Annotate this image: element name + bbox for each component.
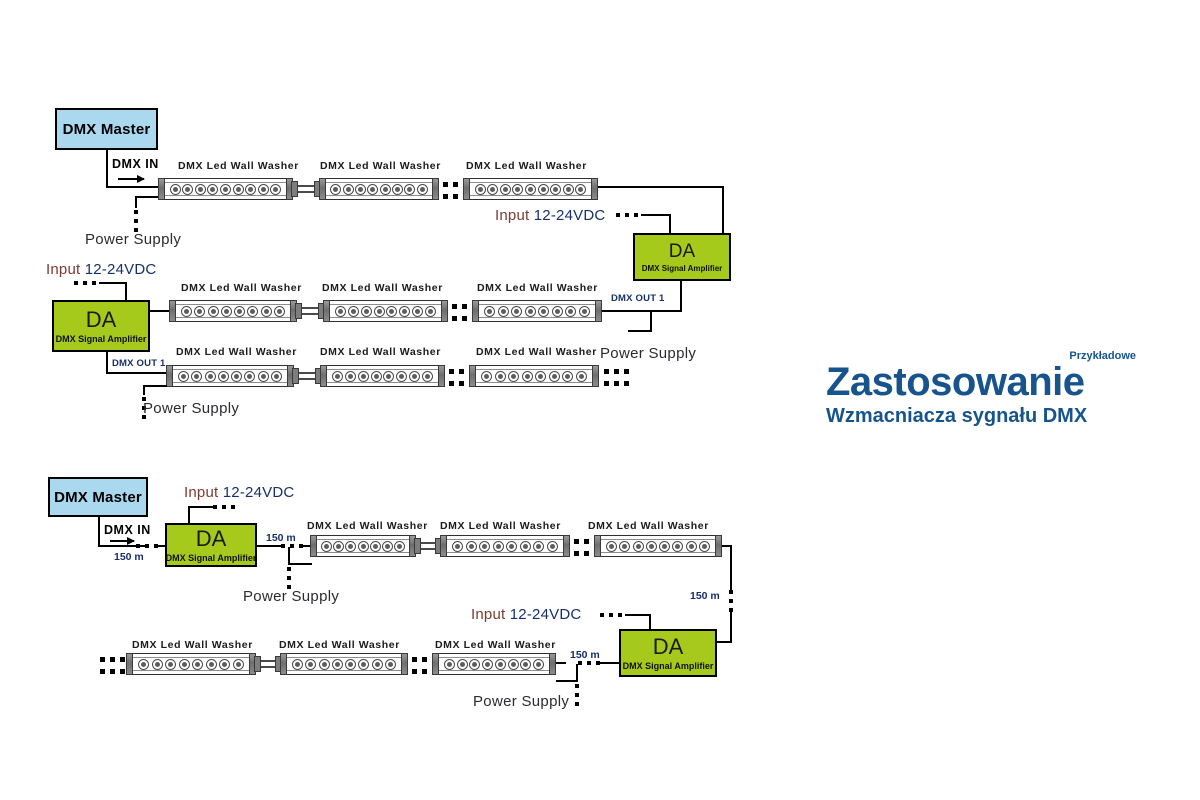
bar-body bbox=[439, 653, 549, 675]
title-block: Przykładowe Zastosowanie Wzmacniacza syg… bbox=[826, 350, 1136, 427]
wire-input-da-bl-h bbox=[188, 506, 214, 508]
led-lens bbox=[332, 371, 343, 382]
bar-end-cap bbox=[595, 300, 602, 322]
washer-label-r4-3: DMX Led Wall Washer bbox=[588, 521, 709, 532]
power-supply-label-mid: Power Supply bbox=[600, 346, 696, 361]
power-supply-label-top: Power Supply bbox=[85, 232, 181, 247]
led-lens bbox=[525, 306, 536, 317]
led-lens bbox=[619, 541, 630, 552]
distance-label-3: 150 m bbox=[690, 591, 720, 602]
bar-end-cap bbox=[432, 653, 439, 675]
led-lens bbox=[182, 184, 193, 195]
dmx-amplifier-bottom-right: DA DMX Signal Amplifier bbox=[619, 629, 717, 677]
led-lens bbox=[234, 306, 245, 317]
led-lens bbox=[233, 659, 244, 670]
led-lens bbox=[522, 371, 533, 382]
bar-connector-r4-1 bbox=[414, 538, 442, 554]
led-lens bbox=[261, 306, 272, 317]
wire-r2-out-v bbox=[680, 281, 682, 311]
amplifier-title: DA bbox=[196, 528, 227, 550]
led-lens bbox=[565, 306, 576, 317]
wire-input-da-mid-h bbox=[99, 282, 127, 284]
wire-da-br-to-r5 bbox=[556, 662, 566, 664]
led-lens bbox=[205, 371, 216, 382]
wall-washer-r5-2 bbox=[280, 653, 408, 675]
amplifier-title: DA bbox=[669, 242, 695, 261]
led-lens bbox=[206, 659, 217, 670]
wall-washer-r4-3 bbox=[594, 535, 722, 557]
led-row bbox=[476, 366, 592, 386]
bar-end-cap bbox=[166, 365, 173, 387]
led-lens bbox=[417, 184, 428, 195]
wire-da-mid-to-r2 bbox=[150, 310, 169, 312]
input-voltage-label-bottom-right: Input 12-24VDC bbox=[471, 607, 581, 622]
led-lens bbox=[394, 541, 405, 552]
wire-ps-r4-v bbox=[288, 547, 290, 565]
led-lens bbox=[195, 184, 206, 195]
distance-label-4: 150 m bbox=[570, 650, 600, 661]
led-lens bbox=[457, 659, 468, 670]
led-lens bbox=[512, 184, 523, 195]
input-dots-top bbox=[616, 213, 638, 217]
led-lens bbox=[181, 306, 192, 317]
led-lens bbox=[538, 306, 549, 317]
bar-end-cap bbox=[549, 653, 556, 675]
led-lens bbox=[547, 541, 558, 552]
led-lens bbox=[533, 659, 544, 670]
amplifier-title: DA bbox=[86, 309, 117, 331]
washer-label-r2-3: DMX Led Wall Washer bbox=[477, 283, 598, 294]
led-lens bbox=[646, 541, 657, 552]
bar-body bbox=[317, 535, 409, 557]
wire-input-da-bl-v bbox=[188, 506, 190, 523]
wall-washer-r1-2 bbox=[319, 178, 439, 200]
led-lens bbox=[425, 306, 436, 317]
led-lens bbox=[358, 659, 369, 670]
distance-label-1: 150 m bbox=[114, 552, 144, 563]
wall-washer-r4-1 bbox=[310, 535, 416, 557]
led-lens bbox=[321, 541, 332, 552]
led-lens bbox=[179, 659, 190, 670]
led-lens bbox=[386, 306, 397, 317]
input-value: 12-24VDC bbox=[223, 484, 295, 501]
bar-body bbox=[470, 178, 591, 200]
led-lens bbox=[562, 371, 573, 382]
led-row bbox=[439, 654, 549, 674]
ps-dots-top bbox=[134, 210, 138, 232]
input-dots-mid bbox=[74, 281, 96, 285]
amplifier-title: DA bbox=[653, 636, 684, 658]
bar-connector-r3-1 bbox=[292, 368, 322, 384]
bar-end-cap bbox=[441, 300, 448, 322]
led-lens bbox=[493, 541, 504, 552]
led-lens bbox=[606, 541, 617, 552]
bar-body bbox=[173, 365, 287, 387]
dmx-in-arrow-bottom bbox=[110, 540, 134, 542]
distance-label-2: 150 m bbox=[266, 533, 296, 544]
bar-end-cap bbox=[319, 178, 326, 200]
dmx-master-label: DMX Master bbox=[54, 489, 142, 506]
wall-washer-r5-1 bbox=[126, 653, 256, 675]
wire-r1-to-da bbox=[722, 186, 724, 233]
washer-label-r4-1: DMX Led Wall Washer bbox=[307, 521, 428, 532]
continuation-dots-r3-right bbox=[604, 369, 629, 386]
wire-ps-r5-v bbox=[576, 664, 578, 682]
distance-dots-2 bbox=[281, 544, 303, 548]
led-lens bbox=[466, 541, 477, 552]
led-lens bbox=[348, 306, 359, 317]
led-lens bbox=[409, 371, 420, 382]
led-lens bbox=[372, 659, 383, 670]
led-lens bbox=[358, 541, 369, 552]
dmx-amplifier-mid-left: DA DMX Signal Amplifier bbox=[52, 300, 150, 352]
dmx-in-label-top: DMX IN bbox=[112, 158, 159, 171]
wall-washer-r5-3 bbox=[432, 653, 556, 675]
led-lens bbox=[506, 541, 517, 552]
led-lens bbox=[231, 371, 242, 382]
bar-body bbox=[330, 300, 441, 322]
led-lens bbox=[218, 371, 229, 382]
wire-input-da-br-h bbox=[625, 614, 651, 616]
led-row bbox=[601, 536, 715, 556]
dmx-master-label: DMX Master bbox=[63, 121, 151, 138]
washer-label-r3-3: DMX Led Wall Washer bbox=[476, 347, 597, 358]
bar-end-cap bbox=[594, 535, 601, 557]
amplifier-subtitle: DMX Signal Amplifier bbox=[642, 264, 723, 273]
wall-washer-r3-1 bbox=[166, 365, 294, 387]
led-lens bbox=[575, 184, 586, 195]
led-lens bbox=[633, 541, 644, 552]
wire-da-mid-out-h bbox=[106, 372, 166, 374]
wire-master-down-bottom bbox=[98, 517, 100, 545]
led-lens bbox=[270, 184, 281, 195]
led-lens bbox=[508, 659, 519, 670]
input-voltage-label-top: Input 12-24VDC bbox=[495, 208, 605, 223]
wire-da-mid-out-v bbox=[106, 352, 108, 372]
led-lens bbox=[699, 541, 710, 552]
led-lens bbox=[412, 306, 423, 317]
washer-label-r1-1: DMX Led Wall Washer bbox=[178, 161, 299, 172]
wall-washer-r2-3 bbox=[472, 300, 602, 322]
led-lens bbox=[533, 541, 544, 552]
bar-end-cap bbox=[591, 178, 598, 200]
led-lens bbox=[686, 541, 697, 552]
wire-input-da-br-v bbox=[649, 614, 651, 629]
led-lens bbox=[549, 371, 560, 382]
led-lens bbox=[520, 659, 531, 670]
wire-da-bl-to-r4 bbox=[303, 545, 310, 547]
bar-connector-r2-1 bbox=[295, 303, 325, 319]
power-supply-label-r3: Power Supply bbox=[143, 401, 239, 416]
dmx-master-box-bottom: DMX Master bbox=[48, 477, 148, 517]
bar-connector-r1-1 bbox=[291, 181, 321, 197]
input-value: 12-24VDC bbox=[534, 207, 606, 224]
led-lens bbox=[576, 371, 587, 382]
led-lens bbox=[333, 541, 344, 552]
ps-dots-r4 bbox=[287, 567, 291, 589]
amplifier-subtitle: DMX Signal Amplifier bbox=[623, 661, 714, 671]
led-row bbox=[287, 654, 401, 674]
led-lens bbox=[345, 659, 356, 670]
wall-washer-r4-2 bbox=[440, 535, 570, 557]
input-voltage-label-mid: Input 12-24VDC bbox=[46, 262, 156, 277]
input-word: Input bbox=[495, 207, 529, 224]
led-lens bbox=[479, 541, 490, 552]
input-word: Input bbox=[184, 484, 218, 501]
led-row bbox=[470, 179, 591, 199]
washer-label-r5-1: DMX Led Wall Washer bbox=[132, 640, 253, 651]
bar-body bbox=[165, 178, 286, 200]
washer-label-r1-3: DMX Led Wall Washer bbox=[466, 161, 587, 172]
led-lens bbox=[469, 659, 480, 670]
wall-washer-r2-1 bbox=[169, 300, 297, 322]
bar-body bbox=[479, 300, 595, 322]
distance-dots-3 bbox=[729, 590, 733, 612]
led-lens bbox=[219, 659, 230, 670]
led-lens bbox=[550, 184, 561, 195]
led-lens bbox=[535, 371, 546, 382]
input-word: Input bbox=[471, 606, 505, 623]
led-lens bbox=[392, 184, 403, 195]
wire-da-bl-out bbox=[257, 545, 281, 547]
led-row bbox=[447, 536, 563, 556]
led-lens bbox=[194, 306, 205, 317]
led-lens bbox=[221, 306, 232, 317]
bar-end-cap bbox=[310, 535, 317, 557]
bar-body bbox=[176, 300, 290, 322]
title-subtitle: Wzmacniacza sygnału DMX bbox=[826, 405, 1136, 427]
wall-washer-r3-2 bbox=[320, 365, 445, 387]
wire-r1-out bbox=[598, 186, 724, 188]
led-lens bbox=[191, 371, 202, 382]
bar-end-cap bbox=[563, 535, 570, 557]
led-lens bbox=[345, 541, 356, 552]
wire-ps-mid-h bbox=[628, 330, 652, 332]
input-value: 12-24VDC bbox=[85, 261, 157, 278]
led-lens bbox=[274, 306, 285, 317]
led-lens bbox=[370, 541, 381, 552]
ps-dots-r5 bbox=[575, 684, 579, 706]
led-lens bbox=[380, 184, 391, 195]
wire-master-right-top bbox=[106, 186, 158, 188]
led-lens bbox=[345, 371, 356, 382]
bar-body bbox=[601, 535, 715, 557]
led-row bbox=[133, 654, 249, 674]
led-lens bbox=[332, 659, 343, 670]
wire-input-da-mid-v bbox=[125, 282, 127, 300]
dmx-amplifier-bottom-left: DA DMX Signal Amplifier bbox=[165, 523, 257, 567]
led-lens bbox=[444, 659, 455, 670]
wire-ps-r3-v bbox=[143, 385, 145, 395]
wire-r4-out-v2 bbox=[730, 612, 732, 642]
diagram-canvas: DMX Master DMX IN Power Supply DMX Led W… bbox=[0, 0, 1200, 800]
led-row bbox=[173, 366, 287, 386]
distance-dots-1 bbox=[136, 544, 158, 548]
led-lens bbox=[165, 659, 176, 670]
led-lens bbox=[452, 541, 463, 552]
washer-label-r3-1: DMX Led Wall Washer bbox=[176, 347, 297, 358]
led-row bbox=[330, 301, 441, 321]
led-lens bbox=[552, 306, 563, 317]
led-lens bbox=[367, 184, 378, 195]
led-lens bbox=[374, 306, 385, 317]
led-lens bbox=[382, 541, 393, 552]
input-voltage-label-bottom-left: Input 12-24VDC bbox=[184, 485, 294, 500]
led-lens bbox=[511, 306, 522, 317]
wall-washer-r2-2 bbox=[323, 300, 448, 322]
led-row bbox=[326, 179, 432, 199]
led-lens bbox=[245, 184, 256, 195]
led-lens bbox=[422, 371, 433, 382]
led-lens bbox=[487, 184, 498, 195]
wire-master-down-top bbox=[106, 150, 108, 186]
led-lens bbox=[404, 184, 415, 195]
led-row bbox=[176, 301, 290, 321]
bar-body bbox=[476, 365, 592, 387]
led-lens bbox=[244, 371, 255, 382]
wire-input-da-top-v bbox=[669, 214, 671, 233]
input-dots-bottom-right bbox=[600, 613, 622, 617]
led-lens bbox=[498, 306, 509, 317]
wire-ps-r5-h bbox=[556, 680, 578, 682]
led-lens bbox=[563, 184, 574, 195]
dmx-in-label-bottom: DMX IN bbox=[104, 524, 151, 537]
washer-label-r1-2: DMX Led Wall Washer bbox=[320, 161, 441, 172]
bar-end-cap bbox=[715, 535, 722, 557]
dmx-out1-label-row3: DMX OUT 1 bbox=[112, 359, 166, 369]
bar-end-cap bbox=[280, 653, 287, 675]
led-row bbox=[327, 366, 438, 386]
led-lens bbox=[178, 371, 189, 382]
led-lens bbox=[538, 184, 549, 195]
power-supply-label-r4: Power Supply bbox=[243, 589, 339, 604]
wall-washer-r1-3 bbox=[463, 178, 598, 200]
led-lens bbox=[247, 306, 258, 317]
led-lens bbox=[305, 659, 316, 670]
washer-label-r5-2: DMX Led Wall Washer bbox=[279, 640, 400, 651]
bar-end-cap bbox=[592, 365, 599, 387]
bar-end-cap bbox=[440, 535, 447, 557]
washer-label-r4-2: DMX Led Wall Washer bbox=[440, 521, 561, 532]
led-lens bbox=[383, 371, 394, 382]
wire-da-br-out bbox=[600, 662, 620, 664]
bar-body bbox=[326, 178, 432, 200]
led-lens bbox=[220, 184, 231, 195]
wire-input-da-top-h bbox=[641, 214, 671, 216]
led-row bbox=[479, 301, 595, 321]
bar-end-cap bbox=[126, 653, 133, 675]
led-lens bbox=[343, 184, 354, 195]
distance-dots-4 bbox=[578, 661, 600, 665]
bar-end-cap bbox=[463, 178, 470, 200]
led-lens bbox=[579, 306, 590, 317]
bar-body bbox=[447, 535, 563, 557]
washer-label-r2-2: DMX Led Wall Washer bbox=[322, 283, 443, 294]
led-lens bbox=[330, 184, 341, 195]
led-lens bbox=[192, 659, 203, 670]
led-lens bbox=[170, 184, 181, 195]
led-lens bbox=[152, 659, 163, 670]
power-supply-label-r5: Power Supply bbox=[473, 694, 569, 709]
input-value: 12-24VDC bbox=[510, 606, 582, 623]
amplifier-subtitle: DMX Signal Amplifier bbox=[166, 553, 257, 563]
bar-end-cap bbox=[438, 365, 445, 387]
bar-body bbox=[133, 653, 249, 675]
led-lens bbox=[495, 371, 506, 382]
wire-r2-out-h bbox=[602, 310, 682, 312]
led-row bbox=[317, 536, 409, 556]
dmx-in-arrow-top bbox=[118, 178, 144, 180]
led-lens bbox=[271, 371, 282, 382]
led-lens bbox=[396, 371, 407, 382]
led-lens bbox=[481, 371, 492, 382]
wall-washer-r3-3 bbox=[469, 365, 599, 387]
led-lens bbox=[495, 659, 506, 670]
led-lens bbox=[371, 371, 382, 382]
led-lens bbox=[659, 541, 670, 552]
bar-end-cap bbox=[320, 365, 327, 387]
led-lens bbox=[258, 371, 269, 382]
led-lens bbox=[138, 659, 149, 670]
led-row bbox=[165, 179, 286, 199]
led-lens bbox=[355, 184, 366, 195]
led-lens bbox=[385, 659, 396, 670]
led-lens bbox=[525, 184, 536, 195]
wire-ps-top-v bbox=[135, 196, 137, 208]
led-lens bbox=[319, 659, 330, 670]
led-lens bbox=[335, 306, 346, 317]
led-lens bbox=[484, 306, 495, 317]
led-lens bbox=[475, 184, 486, 195]
led-lens bbox=[208, 306, 219, 317]
bar-end-cap bbox=[158, 178, 165, 200]
bar-end-cap bbox=[472, 300, 479, 322]
wire-ps-r4-h bbox=[288, 563, 312, 565]
continuation-dots-r5-left bbox=[100, 657, 125, 674]
led-lens bbox=[520, 541, 531, 552]
led-lens bbox=[500, 184, 511, 195]
dmx-out1-label-top: DMX OUT 1 bbox=[611, 294, 665, 304]
led-lens bbox=[672, 541, 683, 552]
led-lens bbox=[233, 184, 244, 195]
led-lens bbox=[258, 184, 269, 195]
washer-label-r2-1: DMX Led Wall Washer bbox=[181, 283, 302, 294]
title-main: Zastosowanie bbox=[826, 362, 1136, 403]
input-dots-bottom-left bbox=[213, 505, 235, 509]
washer-label-r5-3: DMX Led Wall Washer bbox=[435, 640, 556, 651]
led-lens bbox=[207, 184, 218, 195]
led-lens bbox=[482, 659, 493, 670]
wire-r4-out-v bbox=[730, 545, 732, 590]
led-lens bbox=[399, 306, 410, 317]
bar-connector-r5-1 bbox=[254, 656, 282, 672]
bar-body bbox=[327, 365, 438, 387]
bar-body bbox=[287, 653, 401, 675]
led-lens bbox=[361, 306, 372, 317]
wire-ps-r3-h bbox=[143, 385, 167, 387]
bar-end-cap bbox=[323, 300, 330, 322]
bar-end-cap bbox=[401, 653, 408, 675]
bar-end-cap bbox=[469, 365, 476, 387]
wall-washer-r1-1 bbox=[158, 178, 293, 200]
wire-ps-mid-v bbox=[650, 312, 652, 332]
dmx-amplifier-top-right: DA DMX Signal Amplifier bbox=[633, 233, 731, 281]
bar-end-cap bbox=[432, 178, 439, 200]
bar-end-cap bbox=[169, 300, 176, 322]
dmx-master-box-top: DMX Master bbox=[55, 108, 158, 150]
input-word: Input bbox=[46, 261, 80, 278]
led-lens bbox=[292, 659, 303, 670]
